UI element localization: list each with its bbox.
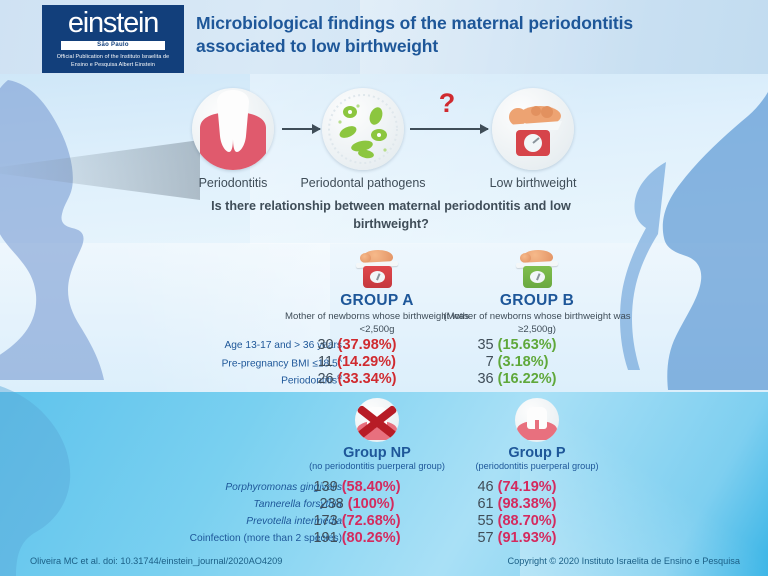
tooth-crossed-out-icon — [355, 398, 399, 442]
group-p-value: 46 (74.19%) — [442, 479, 592, 495]
logo-city: São Paulo — [97, 42, 129, 48]
group-a-value: 11 (14.29%) — [282, 354, 432, 370]
group-p-value: 55 (88.70%) — [442, 513, 592, 529]
group-p-description: (periodontitis puerperal group) — [432, 461, 642, 473]
question-mark-icon: ? — [432, 88, 462, 119]
green-baby-scale-icon — [514, 250, 560, 290]
tooth-gum-icon — [192, 88, 274, 170]
logo-rule: São Paulo — [61, 41, 165, 50]
infographic-poster: einstein São Paulo Official Publication … — [0, 0, 768, 576]
flow-arrow — [410, 128, 488, 130]
flow-label-low-birthweight: Low birthweight — [458, 176, 608, 190]
tooth-gum-icon — [515, 398, 559, 442]
group-b-header: GROUP B (Mother of newborns whose birthw… — [432, 250, 642, 336]
group-p-value: 61 (98.38%) — [442, 496, 592, 512]
group-b-title: GROUP B — [432, 292, 642, 310]
group-b-value: 7 (3.18%) — [442, 354, 592, 370]
baby-on-scale-icon — [492, 88, 574, 170]
flow-label-pathogens: Periodontal pathogens — [283, 176, 443, 190]
group-p-header: Group P (periodontitis puerperal group) — [432, 398, 642, 473]
research-question: Is there relationship between maternal p… — [204, 198, 578, 234]
petri-dish-bacteria-icon — [322, 88, 404, 170]
flow-arrow — [282, 128, 320, 130]
page-title: Microbiological findings of the maternal… — [196, 12, 646, 59]
logo-wordmark: einstein — [68, 9, 158, 38]
group-p-value: 57 (91.93%) — [442, 530, 592, 546]
group-np-value: 139 (58.40%) — [282, 479, 432, 495]
copyright: Copyright © 2020 Instituto Israelita de … — [507, 556, 740, 566]
group-b-value: 35 (15.63%) — [442, 337, 592, 353]
logo-subtitle: Official Publication of the Instituto Is… — [48, 53, 178, 69]
group-np-value: 191 (80.26%) — [282, 530, 432, 546]
group-np-value: 173 (72.68%) — [282, 513, 432, 529]
group-p-title: Group P — [432, 445, 642, 461]
group-np-value: 238 (100%) — [282, 496, 432, 512]
group-b-description: (Mother of newborns whose birthweight wa… — [432, 311, 642, 336]
group-a-value: 30 (37.98%) — [282, 337, 432, 353]
red-baby-scale-icon — [354, 250, 400, 290]
woman-silhouette-left — [0, 80, 204, 380]
group-b-value: 36 (16.22%) — [442, 371, 592, 387]
woman-silhouette-left-lower — [0, 380, 204, 576]
citation: Oliveira MC et al. doi: 10.31744/einstei… — [30, 556, 282, 566]
group-a-value: 26 (33.34%) — [282, 371, 432, 387]
einstein-logo: einstein São Paulo Official Publication … — [42, 5, 184, 73]
